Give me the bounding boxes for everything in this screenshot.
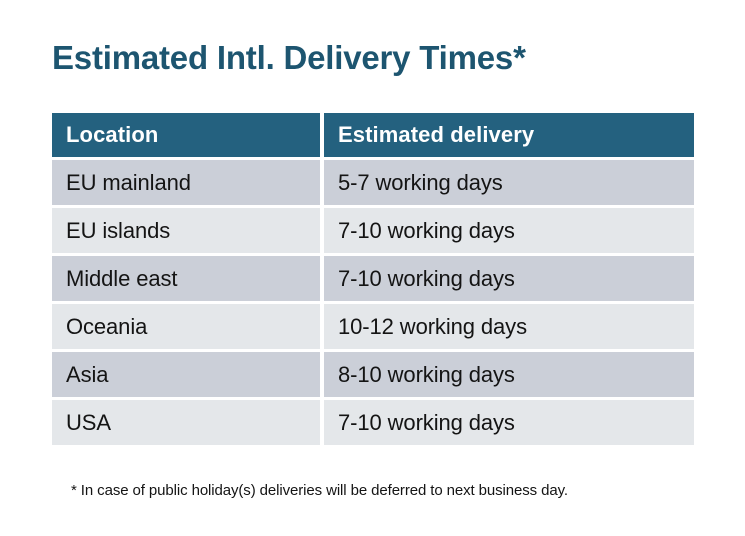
delivery-times-table: Location Estimated delivery EU mainland … (48, 110, 698, 448)
table-row: Middle east 7-10 working days (52, 256, 694, 301)
cell-location: EU mainland (52, 160, 320, 205)
cell-location: Middle east (52, 256, 320, 301)
cell-location: Asia (52, 352, 320, 397)
table-header: Location Estimated delivery (52, 113, 694, 157)
cell-location: Oceania (52, 304, 320, 349)
cell-location: USA (52, 400, 320, 445)
cell-delivery: 8-10 working days (324, 352, 694, 397)
table-header-row: Location Estimated delivery (52, 113, 694, 157)
cell-delivery: 7-10 working days (324, 256, 694, 301)
cell-delivery: 10-12 working days (324, 304, 694, 349)
column-header-location: Location (52, 113, 320, 157)
table-row: EU mainland 5-7 working days (52, 160, 694, 205)
table-row: Asia 8-10 working days (52, 352, 694, 397)
cell-delivery: 5-7 working days (324, 160, 694, 205)
cell-delivery: 7-10 working days (324, 400, 694, 445)
cell-delivery: 7-10 working days (324, 208, 694, 253)
table-row: USA 7-10 working days (52, 400, 694, 445)
cell-location: EU islands (52, 208, 320, 253)
table-row: EU islands 7-10 working days (52, 208, 694, 253)
page-title: Estimated Intl. Delivery Times* (52, 38, 526, 78)
delivery-times-page: Estimated Intl. Delivery Times* Location… (0, 0, 745, 536)
table-body: EU mainland 5-7 working days EU islands … (52, 160, 694, 445)
table-row: Oceania 10-12 working days (52, 304, 694, 349)
column-header-estimated-delivery: Estimated delivery (324, 113, 694, 157)
footnote: * In case of public holiday(s) deliverie… (71, 482, 568, 499)
